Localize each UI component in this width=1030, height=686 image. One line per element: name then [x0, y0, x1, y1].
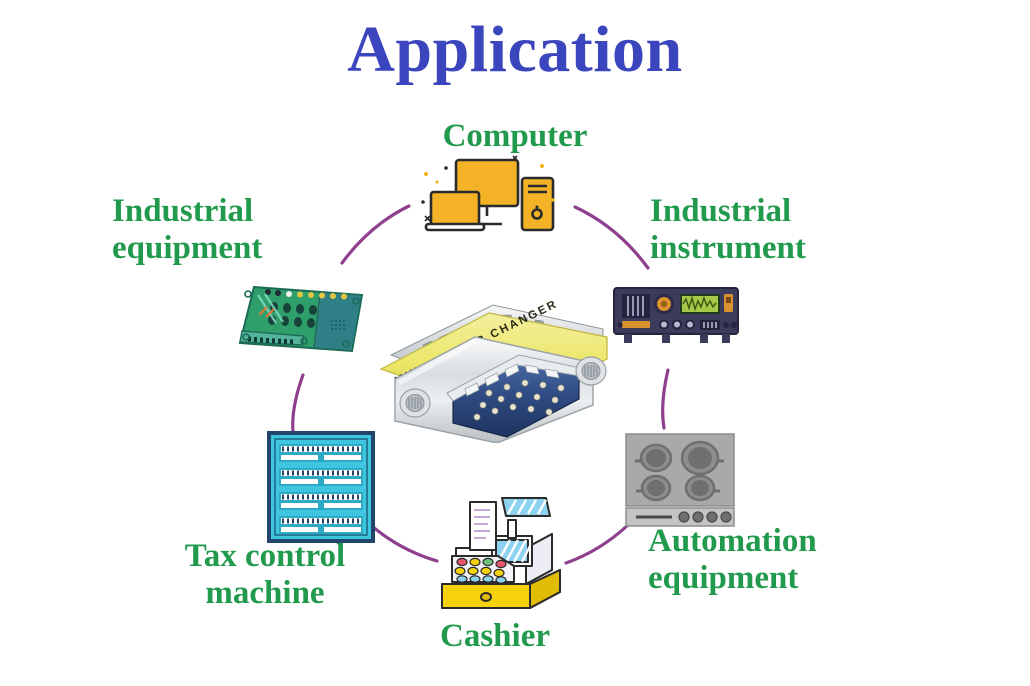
arc-industrial-equipment-to-tax [293, 375, 303, 432]
vga-gender-changer-connector: MINI GENDER CHANGER [367, 293, 637, 443]
label-tax-control-machine: Tax control machine [140, 538, 390, 612]
cash-register-icon [434, 484, 567, 616]
application-diagram: Application [0, 0, 1030, 686]
label-industrial-instrument: Industrial instrument [650, 193, 920, 267]
label-automation-equipment: Automation equipment [648, 523, 928, 597]
arc-industrial-instrument-to-automation [663, 370, 668, 428]
label-cashier: Cashier [380, 618, 610, 655]
arc-computer-to-industrial-instrument [575, 207, 648, 268]
industrial-equipment-icon [234, 281, 369, 366]
arc-automation-to-cashier [566, 525, 628, 563]
label-computer: Computer [380, 118, 650, 155]
automation-equipment-icon [622, 430, 740, 530]
tax-control-machine-icon [266, 430, 376, 544]
label-industrial-equipment: Industrial equipment [112, 193, 362, 267]
page-title: Application [0, 14, 1030, 85]
computer-icon [420, 152, 565, 247]
